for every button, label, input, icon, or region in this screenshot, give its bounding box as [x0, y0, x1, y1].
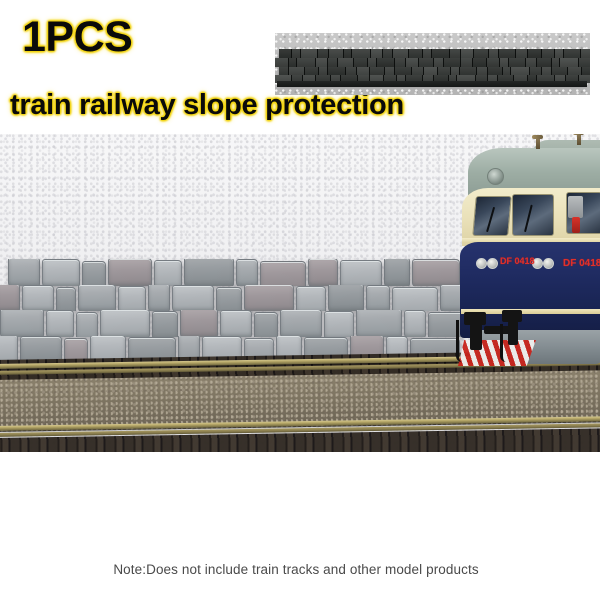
inset-wall-stone [279, 49, 292, 58]
cab-side-equipment-box [568, 196, 583, 218]
loco-horn-right-post [577, 134, 581, 145]
inset-wall-stone [509, 58, 526, 67]
wall-stone [324, 311, 354, 337]
cab-side-red-light [572, 217, 580, 233]
inset-wall-stone [473, 58, 487, 67]
wall-stone [384, 259, 410, 286]
marker-light-a [476, 258, 487, 269]
inset-wall-stone [383, 49, 393, 58]
wall-stone [340, 260, 382, 286]
inset-wall-stone [329, 49, 344, 58]
inset-wall-stone [450, 49, 461, 58]
wall-course [0, 285, 462, 311]
header-band: 1PCS train railway slope protection [0, 0, 600, 133]
inset-wall-stone [579, 58, 590, 67]
coupler-crossbar [484, 326, 512, 334]
disclaimer-note: Note:Does not include train tracks and o… [0, 562, 600, 577]
page-title: train railway slope protection [10, 91, 404, 120]
inset-wall-stone [560, 58, 579, 67]
inset-wall-stone [409, 49, 423, 58]
inset-wall-stone [406, 58, 419, 67]
inset-wall-stone [419, 58, 434, 67]
wall-stone [308, 259, 338, 286]
wall-stone [46, 310, 74, 337]
wall-stone [254, 312, 278, 337]
wall-stone [236, 259, 258, 286]
inset-wall-stone [516, 49, 528, 58]
inset-wall-stone [316, 58, 328, 67]
wall-stone [180, 310, 218, 337]
stone-retaining-wall [0, 259, 462, 364]
cab-window-center [512, 194, 554, 236]
inset-wall-stone [489, 49, 499, 58]
quantity-label: 1PCS [22, 16, 132, 59]
inset-wall-stone [328, 58, 338, 67]
wall-stone [184, 259, 234, 286]
inset-wall-stone [371, 49, 383, 58]
wall-stone [356, 310, 402, 337]
inset-wall-stone [542, 49, 555, 58]
wall-stone [328, 285, 364, 311]
wall-stone [154, 260, 182, 286]
wall-stone [118, 286, 146, 311]
marker-light-d [543, 258, 554, 269]
inset-wall-stone [275, 58, 289, 67]
inset-wall-stone [474, 49, 489, 58]
wall-stone [404, 310, 426, 337]
wall-stone [76, 312, 98, 337]
inset-wall-stone [377, 58, 395, 67]
inset-wall-stone [434, 58, 444, 67]
inset-wall-stone [318, 49, 329, 58]
coupler-shank-left [470, 324, 482, 350]
wall-stone [82, 261, 106, 286]
main-product-photo: DF 0418 DF 0418 [0, 134, 600, 452]
inset-wall-stone [461, 49, 474, 58]
inset-wall-stone [393, 49, 409, 58]
air-brake-hose-left [456, 320, 462, 362]
loco-horn-right [573, 134, 584, 135]
inset-wall-stone [528, 49, 542, 58]
inset-wall-stone [487, 58, 500, 67]
inset-wall-stone [444, 58, 461, 67]
inset-wall-stone [461, 58, 473, 67]
inset-wall-stone [301, 49, 318, 58]
loco-horn-left-post [536, 138, 540, 149]
inset-wall-strip [279, 49, 586, 83]
wall-stone [366, 285, 390, 311]
wall-stone [244, 285, 294, 311]
wall-stone [260, 261, 306, 286]
inset-wall-stone [289, 58, 297, 67]
marker-light-b [487, 258, 498, 269]
inset-wall-stone [581, 49, 590, 58]
wall-stone [8, 259, 40, 286]
loco-number-front: DF 0418 [500, 256, 535, 266]
wall-stone [148, 285, 170, 311]
wall-stone [296, 286, 326, 311]
inset-wall-stone [423, 49, 432, 58]
inset-wall-stone [368, 58, 377, 67]
inset-wall-stone [564, 49, 581, 58]
inset-wall-stone [354, 58, 368, 67]
loco-headlight [487, 168, 504, 185]
wall-stone [56, 287, 76, 311]
wall-stone [280, 310, 322, 337]
inset-wall-stone [352, 49, 371, 58]
inset-wall-stone [552, 58, 560, 67]
locomotive-model: DF 0418 DF 0418 [440, 134, 600, 404]
wall-stone [220, 310, 252, 337]
inset-wall-base [277, 81, 587, 87]
wall-stone [42, 259, 80, 286]
wall-stone [392, 287, 438, 311]
inset-wall-stone [292, 49, 301, 58]
wall-stone [78, 285, 116, 311]
wall-stone [152, 311, 178, 337]
product-image-canvas: 1PCS train railway slope protection [0, 0, 600, 600]
inset-thumbnail [275, 33, 590, 95]
inset-wall-stone [344, 49, 352, 58]
wall-stone [216, 287, 242, 311]
wall-stone [0, 285, 20, 311]
inset-wall-stone [297, 58, 316, 67]
wall-stone [172, 285, 214, 311]
loco-number-side: DF 0418 [563, 258, 600, 269]
wall-stone [0, 310, 44, 337]
wall-course [0, 310, 462, 337]
inset-wall-course [279, 58, 586, 67]
inset-wall-stone [555, 49, 564, 58]
inset-wall-stone [432, 49, 450, 58]
inset-wall-course [279, 49, 586, 58]
inset-wall-stone [537, 58, 552, 67]
wall-stone [108, 259, 152, 286]
inset-wall-stone [500, 58, 509, 67]
loco-horn-left [532, 135, 543, 139]
inset-wall-stone [395, 58, 406, 67]
wall-course [0, 259, 462, 286]
wall-stone [100, 310, 150, 337]
wall-stone [22, 285, 54, 311]
inset-wall-stone [526, 58, 537, 67]
inset-wall-stone [499, 49, 516, 58]
inset-wall-stone [338, 58, 354, 67]
air-brake-hose-right [500, 324, 506, 362]
